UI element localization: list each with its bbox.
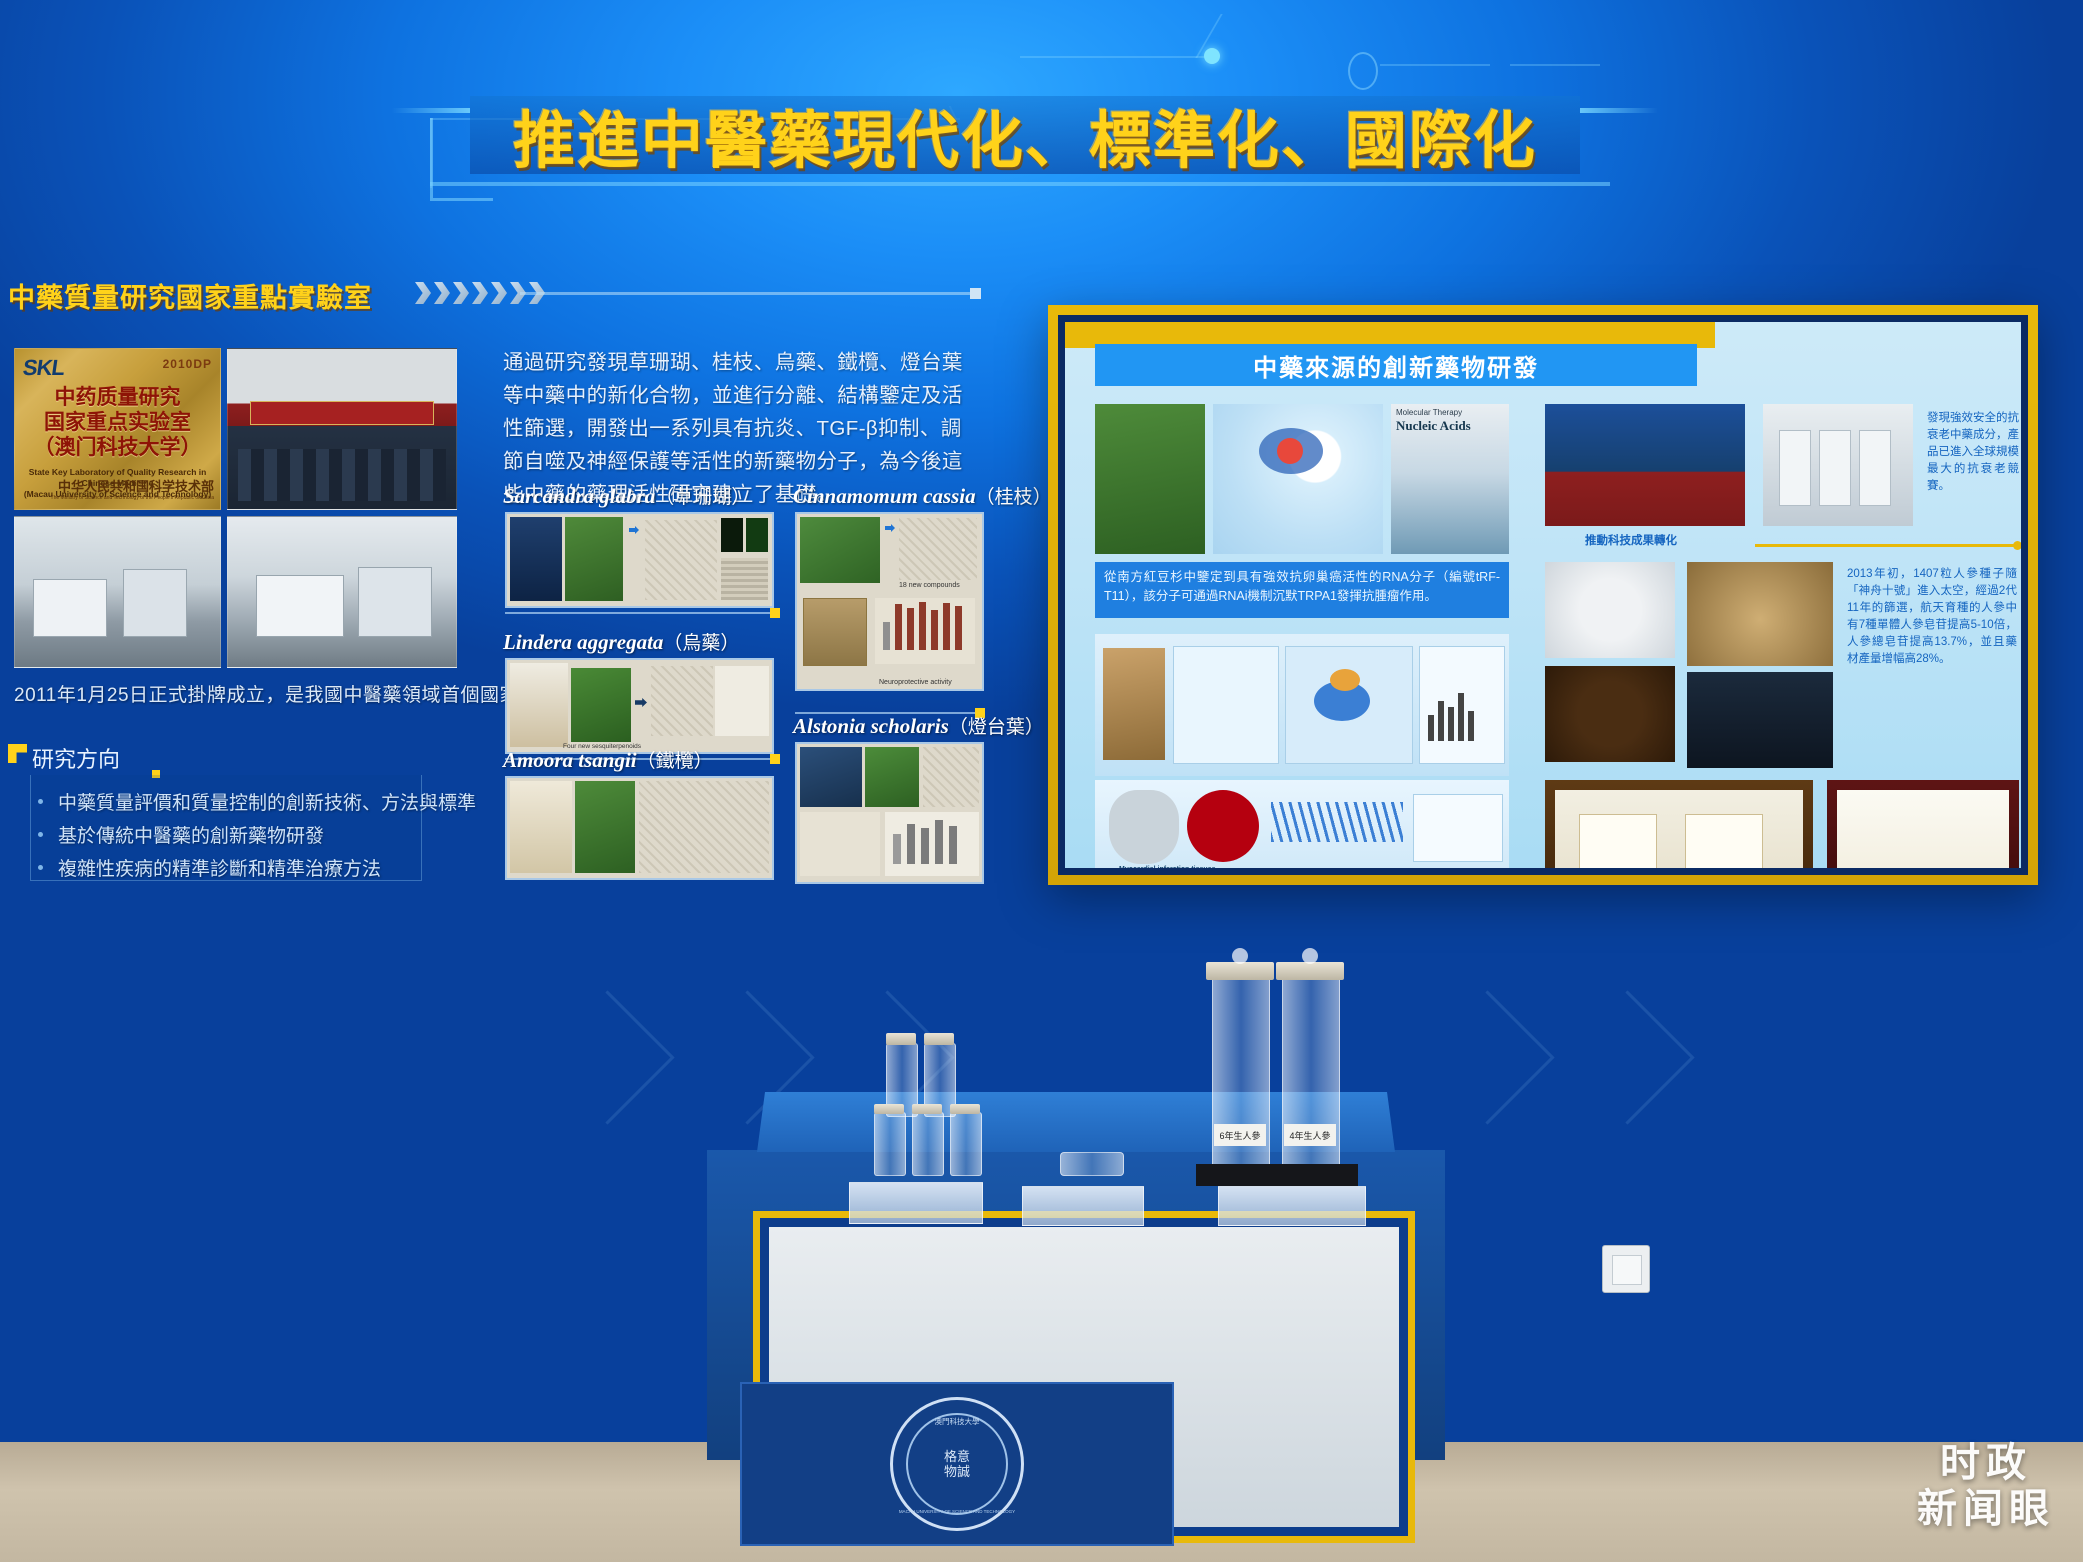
watermark-line-1: 时政 (1917, 1440, 2055, 1486)
jar-cap (886, 1033, 916, 1045)
mechanism-diagram (1213, 404, 1383, 554)
ribosome-diagram (1285, 646, 1413, 764)
journal-series: Molecular Therapy (1396, 408, 1462, 417)
chemical-structures (645, 520, 717, 600)
screen-title: 中藥來源的創新藥物研發 (1095, 344, 1697, 386)
species-latin: Lindera aggregata (503, 630, 663, 654)
title-edge-left (392, 108, 470, 113)
research-direction-title: 研究方向 (32, 742, 120, 774)
species-latin: Amoora tsangii (503, 748, 637, 772)
display-stand (1022, 1186, 1144, 1226)
species-latin: Sarcandra glabra (503, 484, 655, 508)
display-stand (849, 1182, 983, 1224)
journal-cover (800, 747, 862, 807)
capsule-bottles-photo (1763, 404, 1913, 526)
lab-instrument (33, 579, 107, 637)
chemical-structures (639, 781, 769, 873)
species-cn: （燈台葉） (949, 717, 1044, 738)
title-edge-right (1580, 108, 1658, 113)
ginseng-photo (1103, 648, 1165, 760)
plant-photo (800, 517, 880, 583)
species-latin: Alstonia scholaris (793, 714, 949, 738)
trace-plots (715, 666, 769, 736)
bar-chart (885, 812, 979, 876)
jar-cap (874, 1104, 904, 1114)
molecular-therapy-cover: Molecular Therapy Nucleic Acids (1391, 404, 1509, 554)
display-screen[interactable]: 中藥來源的創新藥物研發 Molecular Therapy Nucleic Ac… (1048, 305, 2038, 885)
species-card-caption: 18 new compounds (899, 582, 960, 589)
section-rule (520, 292, 975, 295)
plant-photo (865, 747, 919, 807)
power-outlet[interactable] (1602, 1245, 1650, 1293)
screen-divider (1755, 544, 2017, 547)
species-card-sarcandra (505, 512, 774, 608)
conference-photo (1545, 404, 1745, 526)
powder-photo (1545, 562, 1675, 658)
plaque-chinese-title: 中药质量研究 国家重点实验室 （澳门科技大学） (15, 385, 220, 460)
mouse-illustration (1109, 790, 1179, 864)
award-certificate-photo (1827, 780, 2019, 868)
deco-line (1510, 64, 1600, 66)
species-card-alstonia (795, 742, 984, 884)
screen-side-text-1: 發現強效安全的抗衰老中藥成分，產品已進入全球規模最大的抗衰老競賽。 (1927, 410, 2019, 495)
jar-cap (1276, 962, 1344, 980)
jar-cap (950, 1104, 980, 1114)
screen-side-text-2: 2013年初，1407粒人參種子隨「神舟十號」進入太空，經過2代11年的篩選，航… (1847, 566, 2017, 668)
gel-panel (1413, 794, 1503, 862)
chemical-structures (899, 518, 977, 580)
species-latin: Cinnamomum cassia (793, 484, 976, 508)
arrow-icon (629, 526, 639, 534)
flag-icon (8, 744, 27, 763)
species-cn: （烏藥） (663, 633, 739, 654)
micrograph (721, 518, 743, 552)
divider (505, 612, 775, 614)
jar-base-plate (1196, 1164, 1358, 1186)
heart-illustration (1187, 790, 1259, 862)
capsule-jar (950, 1112, 982, 1176)
wall-chevron (1560, 990, 1694, 1124)
journal-cover (803, 598, 867, 666)
research-item: 複雜性疾病的精準診斷和精準治療方法 (58, 854, 381, 881)
wall-chevron (540, 990, 674, 1124)
watermark-line-2: 新闻眼 (1917, 1486, 2055, 1532)
main-title-banner: 推進中醫藥現代化、標準化、國際化 (470, 96, 1580, 174)
species-cn: （桂枝） (976, 487, 1052, 508)
dna-illustration (1271, 802, 1403, 842)
crest-university-name-en: MACAU UNIVERSITY OF SCIENCE AND TECHNOLO… (893, 1509, 1021, 1514)
petri-dish (1060, 1152, 1124, 1176)
ceremony-photo (227, 348, 457, 510)
micrograph-panel (800, 812, 880, 876)
species-label-sarcandra: Sarcandra glabra（草珊瑚） (503, 482, 750, 509)
ceremony-people (238, 449, 446, 501)
arrow-icon (885, 524, 895, 532)
species-label-cinnamomum: Cinnamomum cassia（桂枝） (793, 482, 1052, 509)
plaque-line-3: （澳门科技大学） (15, 435, 220, 460)
screen-bezel: 中藥來源的創新藥物研發 Molecular Therapy Nucleic Ac… (1058, 315, 2028, 875)
medal-certificate-photo (1545, 780, 1813, 868)
space-ginseng-photo (1687, 672, 1833, 768)
plaque-ministry-en: The Ministry of Science and Technology o… (15, 495, 214, 501)
arrow-icon (635, 698, 647, 707)
micrograph (746, 518, 768, 552)
species-cn: （鐵欖） (637, 751, 713, 772)
jar-label-4yr: 4年生人參 (1284, 1124, 1336, 1146)
journal-cover (510, 663, 568, 747)
jar-label-6yr: 6年生人參 (1214, 1124, 1266, 1146)
plaque-code: 2010DP (163, 357, 212, 371)
journal-cover (510, 781, 572, 873)
screen-text-block-1: 從南方紅豆杉中鑒定到具有強效抗卵巢癌活性的RNA分子（編號tRF-T11），該分… (1095, 562, 1509, 618)
wall-chevron (1420, 990, 1554, 1124)
title-underline (430, 182, 1610, 186)
page-title: 推進中醫藥現代化、標準化、國際化 (470, 96, 1580, 174)
chemical-structures (651, 666, 713, 736)
ginseng-mechanism-diagram (1095, 634, 1509, 776)
jar-knob (1232, 948, 1248, 964)
bar-chart-panel (1419, 646, 1505, 764)
display-stand (1218, 1186, 1366, 1226)
jar-knob (1302, 948, 1318, 964)
species-cn: （草珊瑚） (655, 487, 750, 508)
lab-instrument (123, 569, 187, 637)
plaque-line-2: 国家重点实验室 (15, 410, 220, 435)
bar-chart (875, 598, 975, 664)
western-blot (721, 558, 768, 600)
deco-line (1020, 56, 1210, 58)
capsule-jar (912, 1112, 944, 1176)
plant-photo (565, 517, 623, 601)
journal-cover (510, 517, 562, 601)
species-card-lindera: Four new sesquiterpenoids (505, 658, 774, 754)
species-card-cinnamomum: 18 new compounds Neuroprotective activit… (795, 512, 984, 691)
jar-cap (912, 1104, 942, 1114)
chemical-structures (923, 747, 979, 807)
crest-university-name: 澳門科技大學 (893, 1416, 1021, 1427)
crest-emblem: 格意 物誠 澳門科技大學 MACAU UNIVERSITY OF SCIENCE… (890, 1397, 1024, 1531)
lab-instrument (358, 567, 432, 637)
plaque-ministry: 中华人民共和国科学技术部 The Ministry of Science and… (15, 476, 214, 501)
lab-plaque-photo: SKL 2010DP 中药质量研究 国家重点实验室 （澳门科技大学） State… (14, 348, 221, 510)
plant-photo (575, 781, 635, 873)
screen-content: 中藥來源的創新藥物研發 Molecular Therapy Nucleic Ac… (1065, 322, 2021, 868)
lab-instrument (256, 575, 344, 637)
lab-photo-1 (14, 516, 221, 668)
extract-photo (1545, 666, 1675, 762)
myocardial-diagram: Myocardial infarction tissues (1095, 780, 1509, 868)
capsule-jar (874, 1112, 906, 1176)
ginseng-seeds-photo (1687, 562, 1833, 666)
species-label-amoora: Amoora tsangii（鐵欖） (503, 746, 713, 773)
species-card-amoora (505, 776, 774, 880)
plant-illustration (1095, 404, 1205, 554)
section-heading: 中藥質量研究國家重點實驗室 (8, 276, 372, 315)
research-item: 中藥質量評價和質量控制的創新技術、方法與標準 (58, 788, 476, 815)
exhibition-wall-scene: 推進中醫藥現代化、標準化、國際化 中藥質量研究國家重點實驗室 SKL 2010D… (0, 0, 2083, 1562)
pathway-panel (1173, 646, 1279, 764)
species-card-caption: Neuroprotective activity (879, 679, 952, 686)
deco-dot (1204, 48, 1220, 64)
journal-title: Nucleic Acids (1396, 418, 1471, 434)
jar-cap (1206, 962, 1274, 980)
university-crest-panel: 格意 物誠 澳門科技大學 MACAU UNIVERSITY OF SCIENCE… (740, 1382, 1174, 1546)
species-label-alstonia: Alstonia scholaris（燈台葉） (793, 712, 1044, 739)
deco-ring (1348, 52, 1378, 90)
channel-watermark: 时政 新闻眼 (1917, 1440, 2055, 1532)
species-label-lindera: Lindera aggregata（烏藥） (503, 628, 739, 655)
plaque-line-1: 中药质量研究 (15, 385, 220, 410)
diagram-label: Myocardial infarction tissues (1119, 866, 1215, 868)
screen-caption-transfer: 推動科技成果轉化 (1585, 532, 1677, 548)
jar-cap (924, 1033, 954, 1045)
deco-line (1380, 64, 1490, 66)
lab-photo-2 (227, 516, 457, 668)
ceremony-banner (250, 401, 434, 425)
skl-logo: SKL (21, 355, 66, 381)
research-item: 基於傳統中醫藥的創新藥物研發 (58, 821, 324, 848)
plaque-ministry-cn: 中华人民共和国科学技术部 (58, 479, 214, 494)
plant-photo (571, 668, 631, 742)
